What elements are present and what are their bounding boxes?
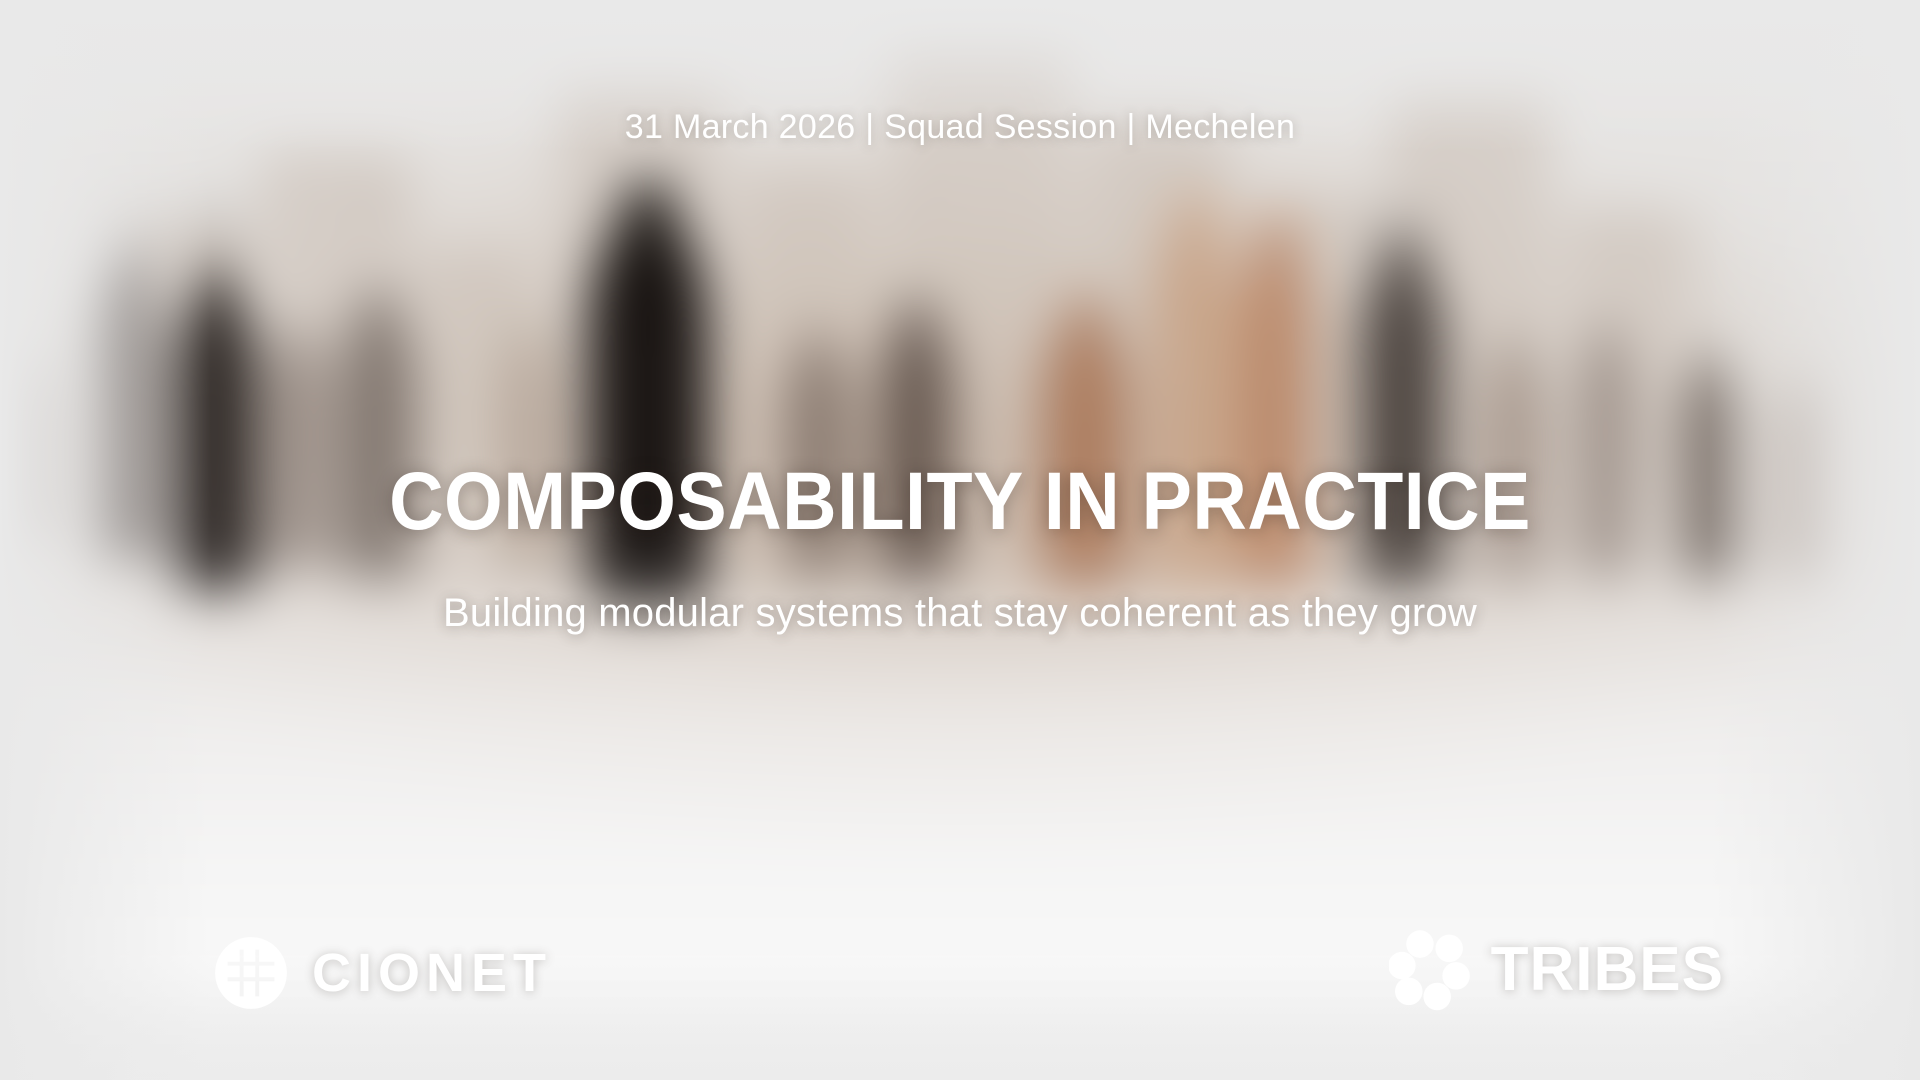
logo-row: CIONET TRIBES xyxy=(0,860,1920,1080)
event-meta-line: 31 March 2026 | Squad Session | Mechelen xyxy=(0,108,1920,147)
cionet-grid-circle-icon xyxy=(212,934,290,1012)
tribes-six-dot-ring-icon xyxy=(1389,926,1475,1012)
page-subtitle: Building modular systems that stay coher… xyxy=(0,591,1920,636)
page-title: COMPOSABILITY IN PRACTICE xyxy=(77,461,1843,543)
cionet-wordmark: CIONET xyxy=(312,942,552,1004)
tribes-wordmark: TRIBES xyxy=(1491,934,1724,1005)
cionet-logo: CIONET xyxy=(212,934,552,1012)
tribes-logo: TRIBES xyxy=(1389,926,1724,1012)
presentation-slide: 31 March 2026 | Squad Session | Mechelen… xyxy=(0,0,1920,1080)
